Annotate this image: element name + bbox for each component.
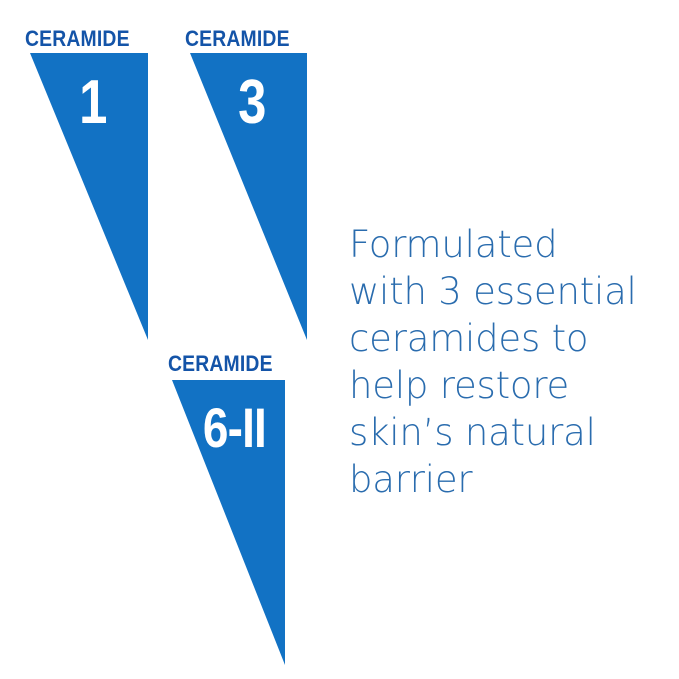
marketing-copy-text: Formulated with 3 essential ceramides to… xyxy=(349,222,649,504)
promo-graphic-canvas: CERAMIDE 1 CERAMIDE 3 CERAMIDE 6-II Form… xyxy=(0,0,679,679)
ceramide-label-6-ii: CERAMIDE xyxy=(168,353,273,375)
ceramide-triangle-6-ii xyxy=(0,0,340,679)
ceramide-badge-6-ii: CERAMIDE 6-II xyxy=(0,0,340,679)
ceramide-number-6-ii: 6-II xyxy=(203,400,266,456)
